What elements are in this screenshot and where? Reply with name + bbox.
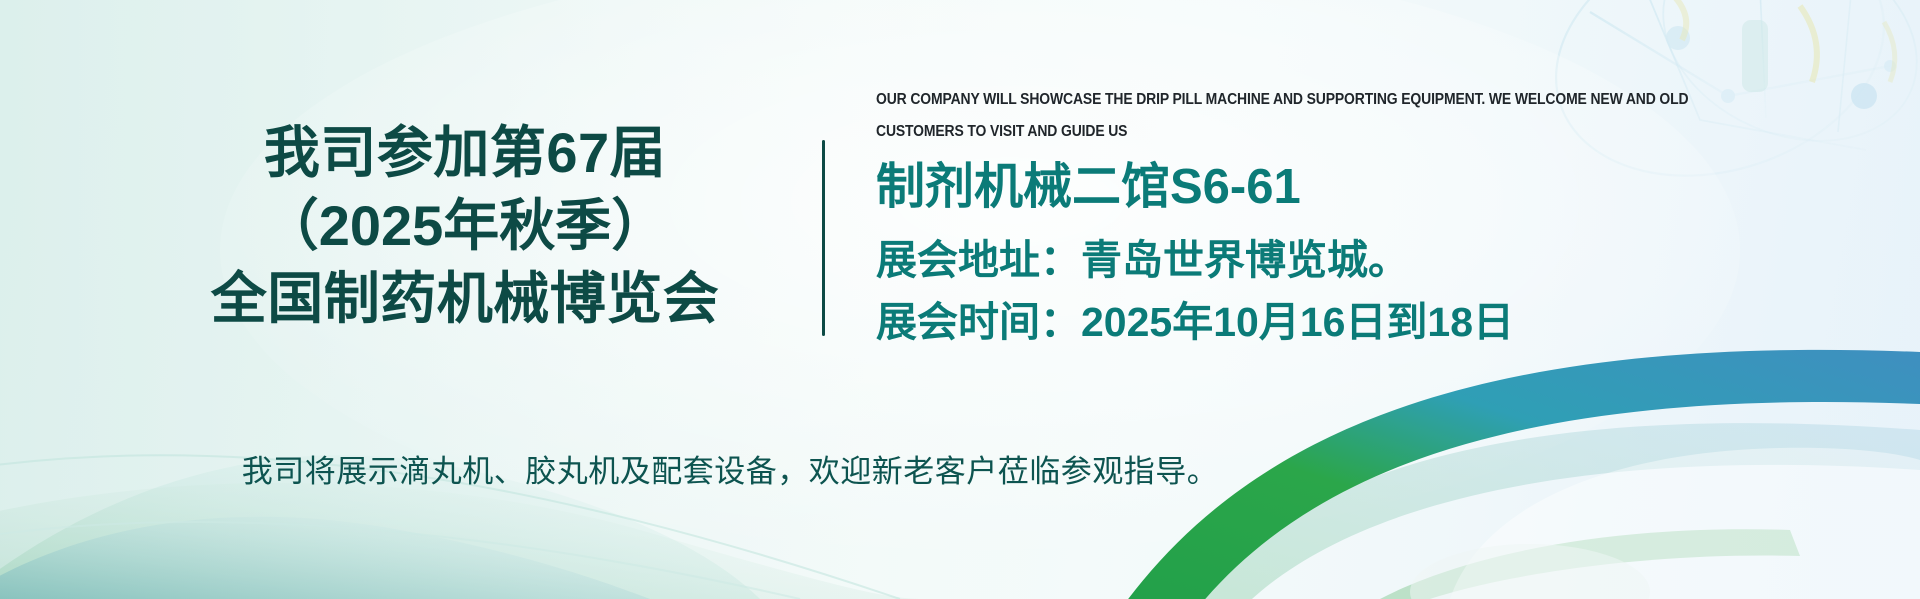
ribbon-arc-tail: [1380, 529, 1800, 599]
headline-line-2: （2025年秋季）: [120, 190, 810, 263]
headline-line-1: 我司参加第67届: [120, 117, 810, 190]
english-subtitle: OUR COMPANY WILL SHOWCASE THE DRIP PILL …: [876, 84, 1700, 148]
headline-line-3: 全国制药机械博览会: [120, 263, 810, 336]
exhibition-banner: 我司参加第67届 （2025年秋季） 全国制药机械博览会 OUR COMPANY…: [0, 0, 1920, 599]
event-date: 展会时间：2025年10月16日到18日: [876, 291, 1886, 353]
swoosh-left-thread-2: [0, 522, 800, 599]
swoosh-left-b: [0, 517, 650, 599]
swoosh-left-c: [0, 483, 920, 599]
headline-block: 我司参加第67届 （2025年秋季） 全国制药机械博览会: [120, 117, 810, 335]
booth-number: 制剂机械二馆S6-61: [876, 162, 1886, 213]
vertical-divider: [822, 140, 825, 336]
tagline: 我司将展示滴丸机、胶丸机及配套设备，欢迎新老客户莅临参观指导。: [0, 446, 1690, 491]
venue-address: 展会地址：青岛世界博览城。: [876, 229, 1886, 291]
glass-bubble: [1410, 544, 1650, 599]
details-block: OUR COMPANY WILL SHOWCASE THE DRIP PILL …: [876, 84, 1886, 354]
